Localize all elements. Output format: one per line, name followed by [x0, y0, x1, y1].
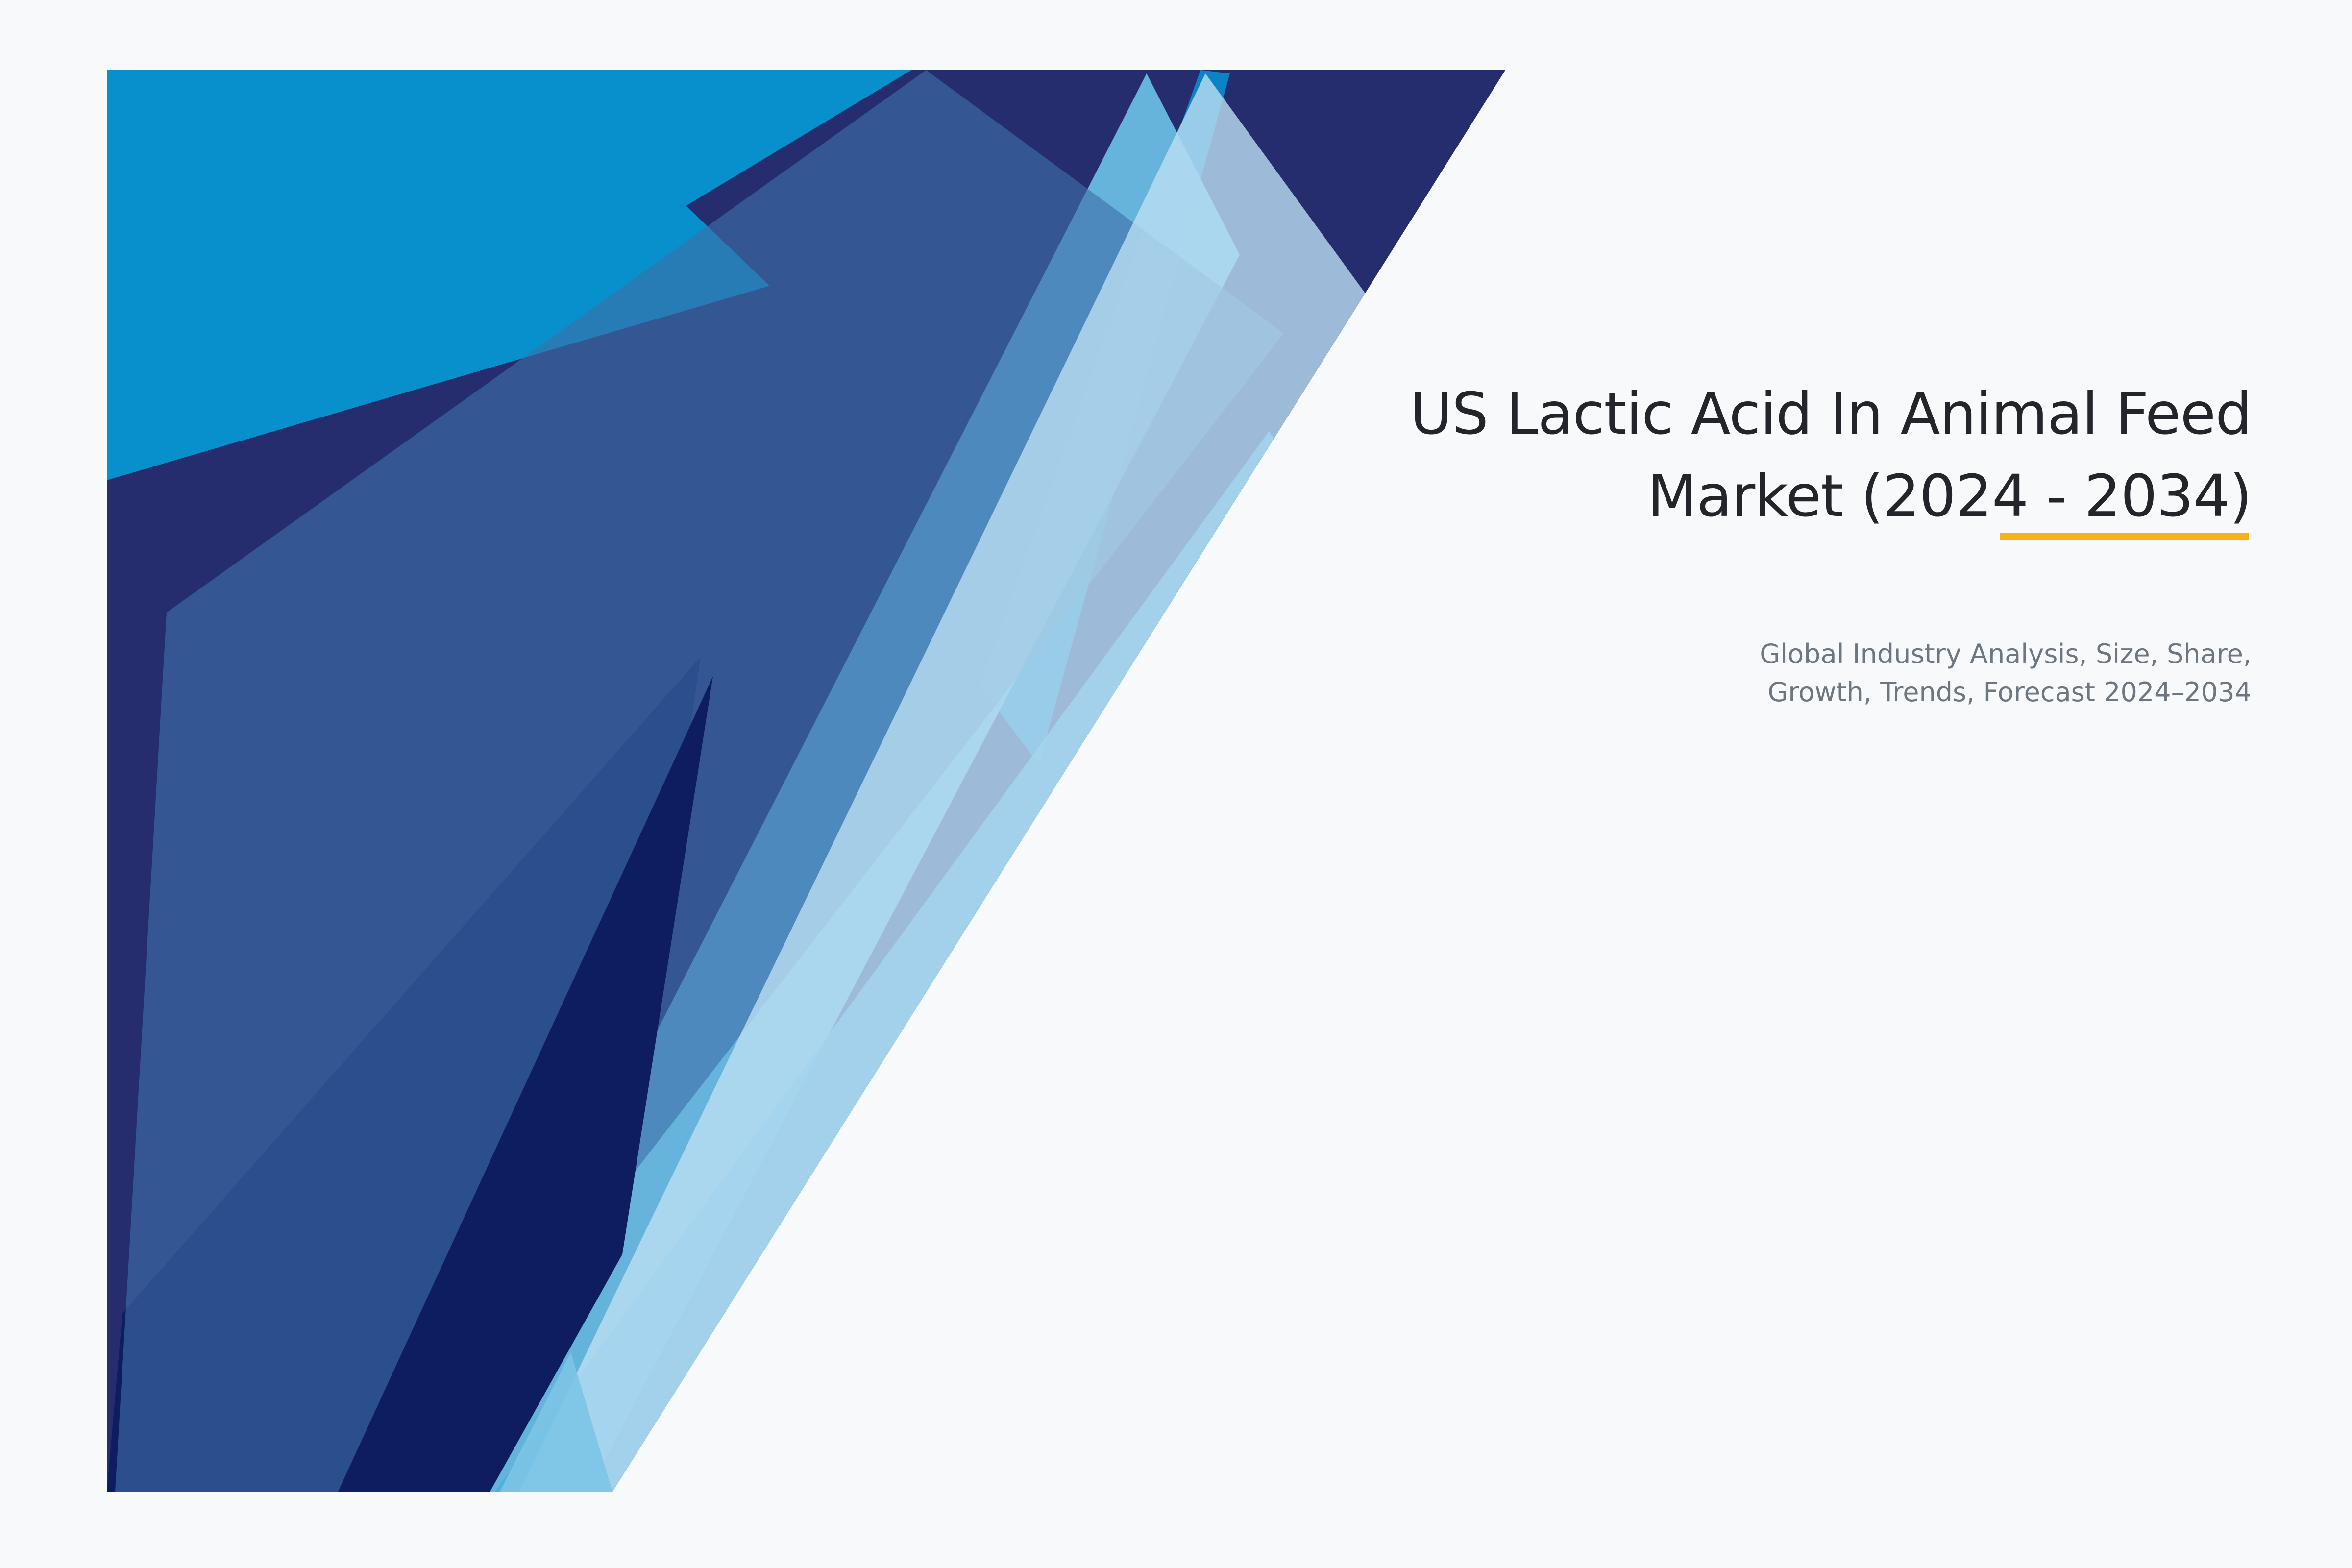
page-subtitle-line-1: Global Industry Analysis, Size, Share, — [1144, 635, 2252, 673]
page-subtitle: Global Industry Analysis, Size, Share, G… — [1144, 635, 2252, 711]
page-title-line-2: Market (2024 - 2034) — [1144, 455, 2252, 537]
abstract-geometric-artwork — [0, 0, 2352, 1568]
cover-text-block: US Lactic Acid In Animal Feed Market (20… — [1144, 372, 2252, 711]
report-cover: US Lactic Acid In Animal Feed Market (20… — [0, 0, 2352, 1568]
page-title-line-1: US Lactic Acid In Animal Feed — [1144, 372, 2252, 455]
page-subtitle-line-2: Growth, Trends, Forecast 2024–2034 — [1144, 673, 2252, 711]
page-title: US Lactic Acid In Animal Feed Market (20… — [1144, 372, 2252, 537]
